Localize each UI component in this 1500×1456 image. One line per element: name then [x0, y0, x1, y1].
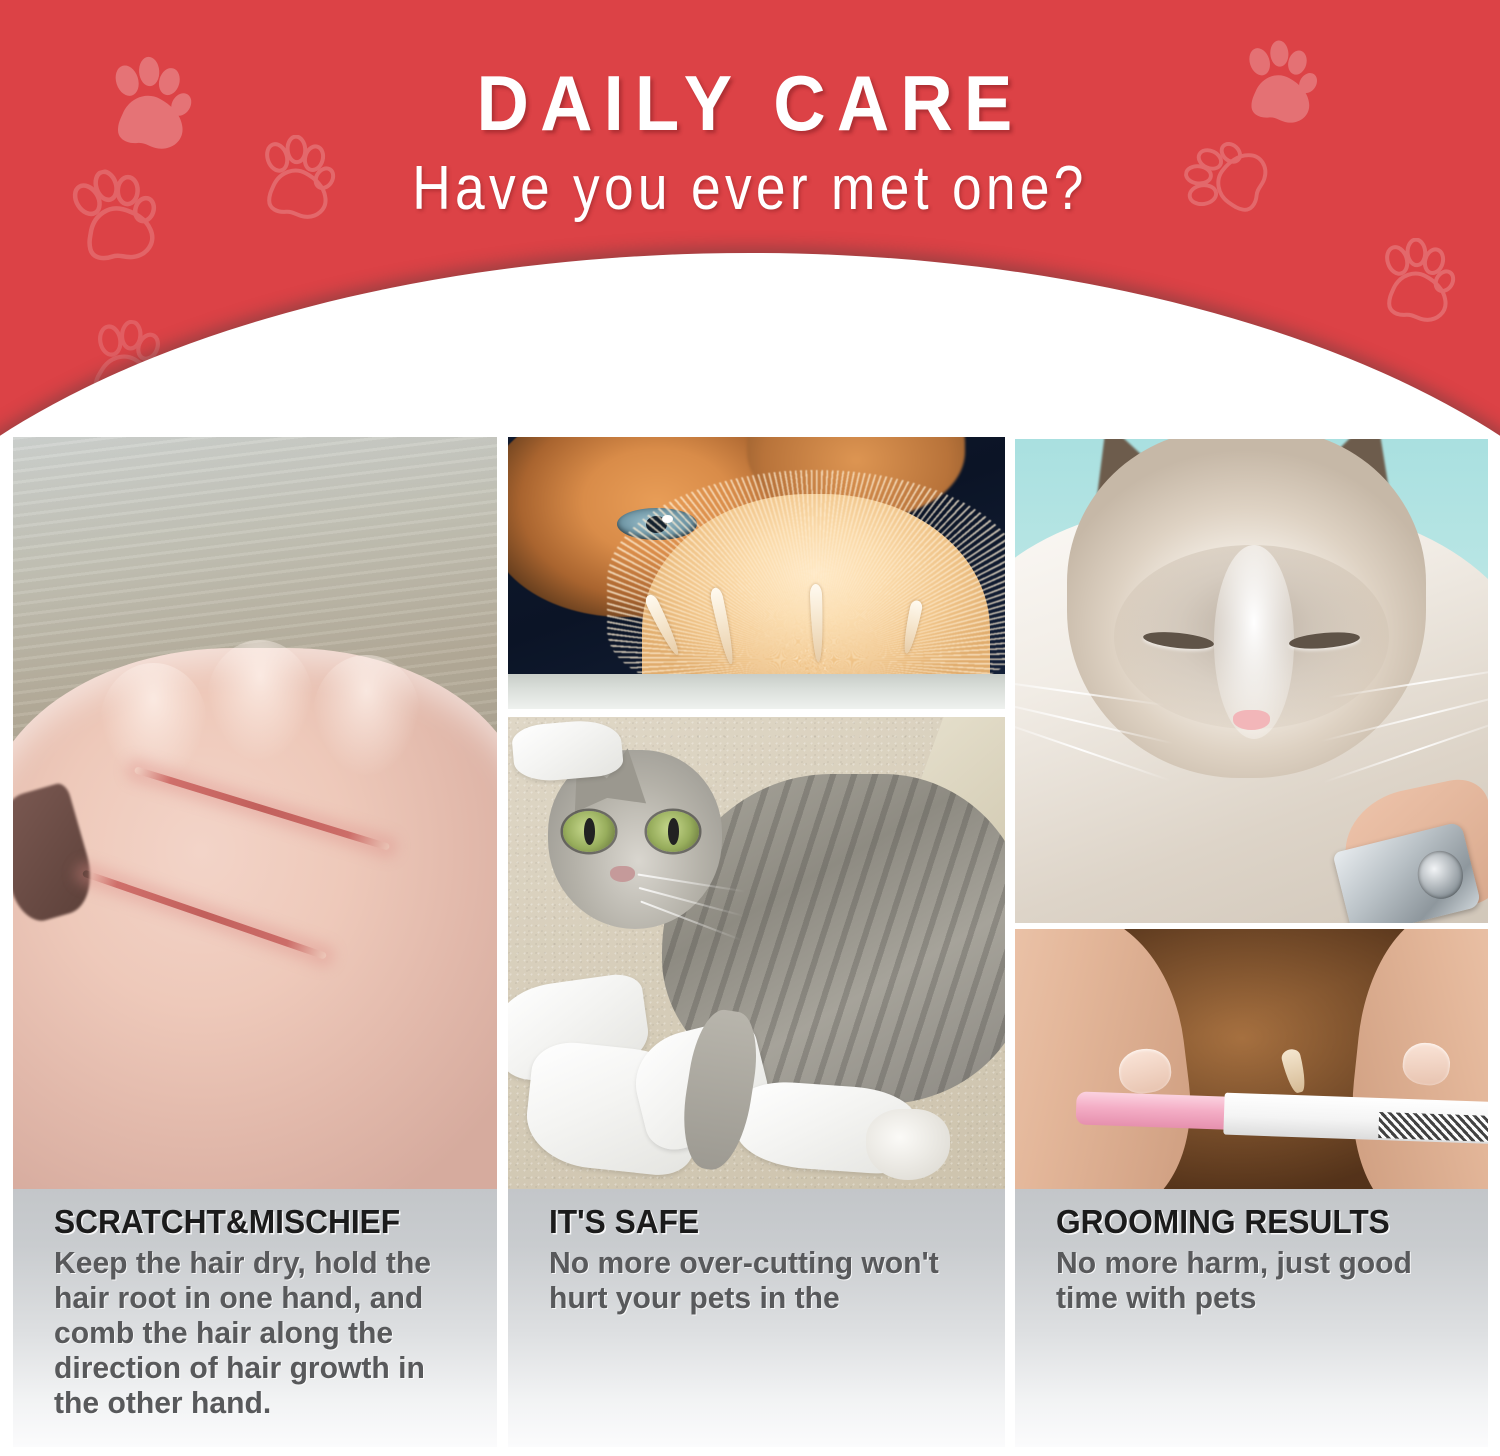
feature-panel-grooming-results: GROOMING RESULTS No more harm, just good… — [1015, 437, 1488, 1447]
page-subtitle: Have you ever met one? — [105, 142, 1395, 220]
photo-claw-filing — [1015, 929, 1488, 1189]
page-title: DAILY CARE — [53, 0, 1448, 142]
caption-title: IT'S SAFE — [549, 1205, 973, 1240]
caption-body: Keep the hair dry, hold the hair root in… — [54, 1245, 470, 1420]
feature-panel-scratch-mischief: SCRATCHT&MISCHIEF Keep the hair dry, hol… — [13, 437, 497, 1447]
caption-scratch-mischief: SCRATCHT&MISCHIEF Keep the hair dry, hol… — [13, 1189, 497, 1447]
caption-grooming-results: GROOMING RESULTS No more harm, just good… — [1015, 1189, 1488, 1447]
paw-print-icon — [1378, 238, 1458, 334]
photo-cat-claws — [508, 437, 1005, 709]
photo-scratched-hand — [13, 437, 497, 1189]
feature-panel-grid: SCRATCHT&MISCHIEF Keep the hair dry, hol… — [13, 437, 1488, 1447]
caption-title: SCRATCHT&MISCHIEF — [54, 1205, 466, 1240]
photo-tabby-shredded-tissue — [508, 717, 1005, 1189]
caption-title: GROOMING RESULTS — [1056, 1205, 1457, 1240]
caption-its-safe: IT'S SAFE No more over-cutting won't hur… — [508, 1189, 1005, 1447]
header-text-block: DAILY CARE Have you ever met one? — [0, 0, 1500, 220]
caption-body: No more harm, just good time with pets — [1056, 1245, 1461, 1315]
caption-body: No more over-cutting won't hurt your pet… — [549, 1245, 978, 1315]
photo-ragdoll-nail-clipper — [1015, 439, 1488, 923]
feature-panel-its-safe: IT'S SAFE No more over-cutting won't hur… — [508, 437, 1005, 1447]
